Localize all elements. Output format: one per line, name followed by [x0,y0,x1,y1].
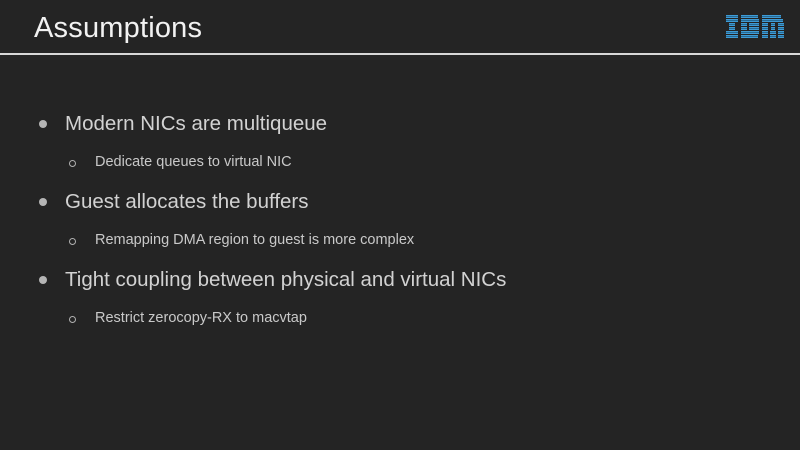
hollow-bullet-icon [69,316,76,323]
bullet-level1-label: Tight coupling between physical and virt… [65,268,506,291]
slide-body: Modern NICs are multiqueue Dedicate queu… [0,54,800,450]
bullet-level1: Modern NICs are multiqueue [0,104,800,143]
presentation-slide: Assumptions [0,0,800,450]
filled-bullet-icon [39,120,47,128]
bullet-level1: Guest allocates the buffers [0,182,800,221]
bullet-group-3: Tight coupling between physical and virt… [0,260,800,338]
bullet-level1: Tight coupling between physical and virt… [0,260,800,299]
bullet-group-1: Modern NICs are multiqueue Dedicate queu… [0,104,800,182]
filled-bullet-icon [39,276,47,284]
bullet-level2-label: Remapping DMA region to guest is more co… [95,232,414,248]
bullet-level2-label: Restrict zerocopy-RX to macvtap [95,310,307,326]
bullet-level2: Remapping DMA region to guest is more co… [0,221,800,260]
hollow-bullet-icon [69,160,76,167]
bullet-level1-label: Guest allocates the buffers [65,190,309,213]
ibm-logo [726,15,784,38]
bullet-group-2: Guest allocates the buffers Remapping DM… [0,182,800,260]
bullet-level2: Restrict zerocopy-RX to macvtap [0,299,800,338]
bullet-level1-label: Modern NICs are multiqueue [65,112,327,135]
bullet-level2: Dedicate queues to virtual NIC [0,143,800,182]
hollow-bullet-icon [69,238,76,245]
bullet-level2-label: Dedicate queues to virtual NIC [95,154,292,170]
filled-bullet-icon [39,198,47,206]
body-top-spacer [0,54,800,104]
slide-header: Assumptions [0,0,800,54]
page-title: Assumptions [34,11,202,45]
